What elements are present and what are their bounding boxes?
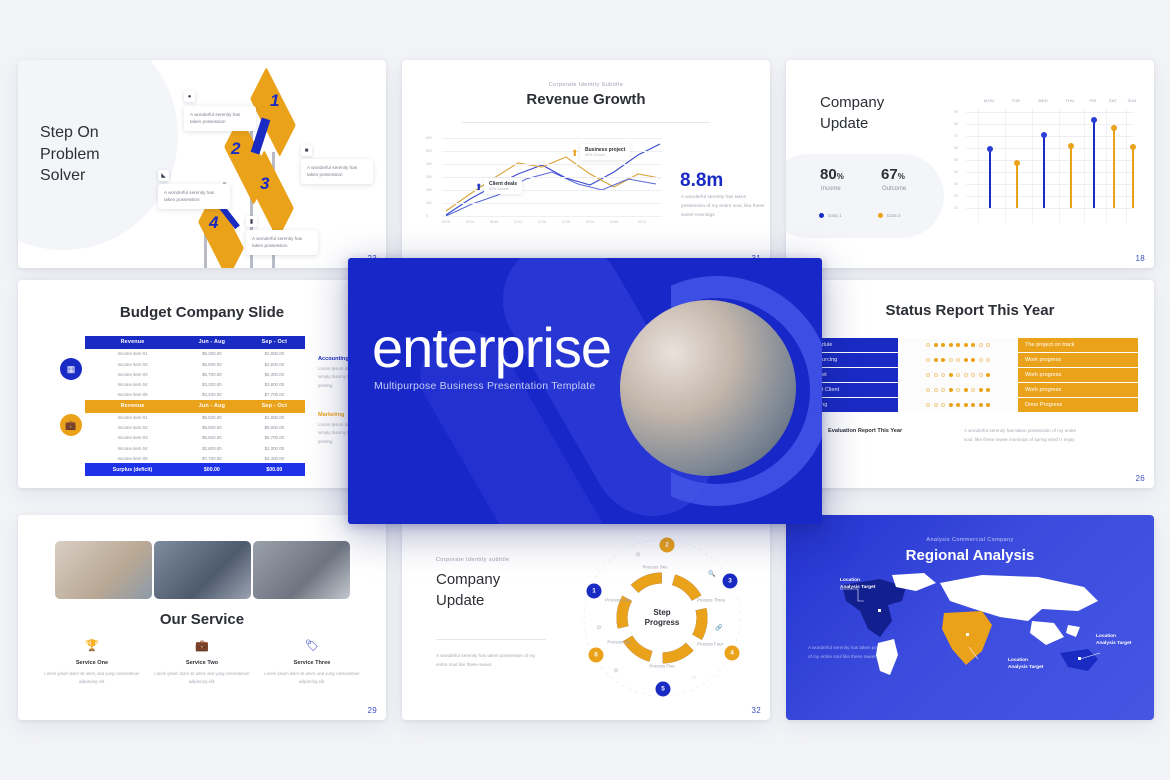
person-icon: ●	[184, 91, 195, 102]
search-icon: 🔍	[708, 571, 715, 578]
slide-our-service[interactable]: Our Service 🏆 Service One Lorem ipsum do…	[18, 515, 386, 720]
legend-item-data2: Data 2	[878, 213, 901, 218]
slide-step-on-problem-solver[interactable]: Step On Problem Solver 1 2 3 4 ● A wonde…	[18, 60, 386, 268]
trophy-icon: 🏆	[38, 641, 146, 652]
axis-tick-fri: FRI	[1089, 98, 1096, 103]
divider	[462, 122, 710, 123]
slide-eyebrow: Analysis Commercial Company	[786, 537, 1154, 543]
cell: $4,400.00	[244, 453, 305, 463]
col-sep-oct: Sep - Oct	[244, 400, 305, 413]
cell: Income item 02	[85, 423, 180, 433]
slide-title: Company Update	[820, 92, 884, 134]
axis-tick-tue: TUE	[1012, 98, 1021, 103]
service-photo	[154, 541, 251, 599]
status-row: Budget Work progress	[802, 368, 1138, 382]
step-number-3: 3	[260, 174, 269, 194]
cell: Surplus (deficit)	[85, 463, 180, 476]
step-number-1: 1	[270, 91, 279, 111]
table-header-row: Revenue Jun - Aug Sep - Oct	[85, 400, 305, 413]
table-row: Income item 02$6,800.00$4,600.00	[85, 359, 305, 369]
home-icon: ⌂	[692, 675, 696, 681]
service-text: Lorem ipsum dolor sit amet, and yung con…	[38, 670, 146, 686]
cell: $8,900.00	[244, 423, 305, 433]
process-label-1: Process One	[598, 598, 638, 605]
divider	[436, 639, 546, 640]
lollipop-stem	[1093, 120, 1095, 208]
map-marker-label-africa: Location Analysis Target	[1008, 657, 1048, 671]
page-number: 18	[1136, 254, 1146, 263]
status-row: Resourcing Work progress	[802, 353, 1138, 367]
tag-icon: 🏷	[258, 641, 366, 652]
page-number: 29	[368, 706, 378, 715]
page-number: 32	[752, 706, 762, 715]
col-sep-oct: Sep - Oct	[244, 336, 305, 349]
cell: Income item 01	[85, 413, 180, 423]
hero-title: enterprise	[372, 320, 611, 376]
table-row: Income item 05$7,700.00$4,400.00	[85, 453, 305, 463]
cell: Income item 02	[85, 359, 180, 369]
process-label-5: Process Five	[642, 664, 682, 671]
stat-label-income: Income	[821, 186, 841, 192]
annotation-growth: 89% Growth	[489, 187, 517, 191]
annotation-growth: 89% Growth	[585, 153, 625, 157]
cog-icon: ⚙	[613, 668, 618, 675]
map-marker-label-north-america: Location Analysis Target	[840, 577, 880, 591]
budget-table: Revenue Jun - Aug Sep - Oct Income item …	[85, 336, 305, 476]
cell: $5,500.00	[180, 413, 244, 423]
status-rating-dots	[898, 368, 1018, 382]
stat-label-outcome: Outcome	[882, 186, 906, 192]
process-node-6: 6	[589, 648, 604, 663]
process-label-3: Process Three	[691, 598, 731, 605]
slide-eyebrow: Corporate Identity Subtitle	[402, 82, 770, 88]
slide-company-update-chart[interactable]: Company Update 80% Income 67% Outcome Da…	[786, 60, 1154, 268]
slide-title: Revenue Growth	[402, 91, 770, 108]
lollipop-head	[1041, 132, 1047, 138]
slide-deck-preview: Step On Problem Solver 1 2 3 4 ● A wonde…	[0, 0, 1170, 780]
cell: Income item 05	[85, 390, 180, 400]
legend-dot	[878, 213, 883, 218]
card-icon: ▦	[60, 358, 82, 380]
service-photo	[253, 541, 350, 599]
col-revenue: Revenue	[85, 400, 180, 413]
legend-dot	[819, 213, 824, 218]
slide-budget-company[interactable]: Budget Company Slide ▦ 💼 Revenue Jun - A…	[18, 280, 386, 488]
cell: $6,300.00	[244, 369, 305, 379]
cell: $7,700.00	[180, 453, 244, 463]
col-jun-aug: Jun - Aug	[180, 336, 244, 349]
cell: $2,300.00	[244, 443, 305, 453]
status-row: Schedule The project on track	[802, 338, 1138, 352]
service-name: Service Two	[148, 660, 256, 666]
arrow-up-icon: ⬆	[571, 149, 579, 158]
step-number-4: 4	[209, 213, 218, 233]
image-icon: ■	[301, 145, 312, 156]
annotation-client-deals: ⬆ Client deals 89% Growth	[484, 178, 522, 194]
callout: A wonderful serenity has taken possessio…	[301, 159, 373, 184]
step-number-2: 2	[231, 139, 240, 159]
status-row: Event Client Work progress	[802, 383, 1138, 397]
table-row: Income item 03$5,700.00$6,300.00	[85, 369, 305, 379]
process-label-2: Process Two	[635, 565, 675, 572]
cell: $7,700.00	[244, 390, 305, 400]
slide-regional-analysis[interactable]: Analysis Commercial Company Regional Ana…	[786, 515, 1154, 720]
legend-label: Data 1	[828, 213, 842, 218]
lollipop-stem	[989, 149, 991, 208]
lollipop-chart: MON TUE WED THU FRI SAT SUN 90 80 70 60 …	[954, 98, 1134, 223]
cell: Income item 04	[85, 379, 180, 389]
slide-title: Regional Analysis	[786, 547, 1154, 564]
cell: $6,800.00	[180, 359, 244, 369]
slide-title: Status Report This Year	[786, 302, 1154, 319]
headline-metric: 8.8m	[680, 170, 723, 192]
table-header-row: Revenue Jun - Aug Sep - Oct	[85, 336, 305, 349]
table-row: Income item 01$5,300.00$2,800.00	[85, 349, 305, 359]
cell: $00.00	[244, 463, 305, 476]
cell: $6,600.00	[180, 433, 244, 443]
process-label-4: Process Four	[690, 642, 730, 649]
stat-value-outcome: 67%	[881, 166, 905, 183]
service-item: 🏆 Service One Lorem ipsum dolor sit amet…	[38, 641, 146, 686]
cell: Income item 03	[85, 369, 180, 379]
axis-tick-mon: MON	[984, 98, 994, 103]
process-node-2: 2	[660, 538, 675, 553]
table-row: Income item 04$2,800.00$2,300.00	[85, 443, 305, 453]
status-row-status: Work progress	[1018, 383, 1138, 397]
callout: A wonderful serenity has taken possessio…	[246, 230, 318, 255]
legend-label: Data 2	[887, 213, 901, 218]
cell: $5,700.00	[180, 369, 244, 379]
cell: $8,500.00	[180, 423, 244, 433]
process-wheel: Step Progress 1 Process One ⚙ 2 Process …	[567, 523, 757, 713]
col-revenue: Revenue	[85, 336, 180, 349]
process-node-3: 3	[723, 574, 738, 589]
slide-title: Company Update	[436, 569, 500, 611]
lollipop-head	[1111, 125, 1117, 131]
gear-icon: ⚙	[596, 625, 601, 632]
hero-subtitle: Multipurpose Business Presentation Templ…	[374, 380, 595, 392]
status-row: Solving Done Progress	[802, 398, 1138, 412]
arrow-up-icon: ⬆	[475, 183, 483, 192]
status-rating-dots	[898, 398, 1018, 412]
legend-item-data1: Data 1	[819, 213, 842, 218]
slide-title: Our Service	[18, 611, 386, 628]
process-label-6: Process Six	[599, 640, 639, 647]
slide-company-update-process[interactable]: Corporate Identity subtitle Company Upda…	[402, 515, 770, 720]
hero-title-slide[interactable]: enterprise Multipurpose Business Present…	[348, 258, 822, 524]
cell: Income item 03	[85, 433, 180, 443]
status-row-status: Work progress	[1018, 353, 1138, 367]
evaluation-text: A wonderful serenity has taken possessio…	[964, 426, 1086, 444]
slide-eyebrow: Corporate Identity subtitle	[436, 557, 509, 563]
cell: $1,800.00	[244, 413, 305, 423]
table-total-row: Surplus (deficit) $00.00 $00.00	[85, 463, 305, 476]
briefcase-icon: 💼	[148, 641, 256, 652]
service-item: 💼 Service Two Lorem ipsum dolor sit amet…	[148, 641, 256, 686]
stat-value-income: 80%	[820, 166, 844, 183]
cell: $6,700.00	[244, 433, 305, 443]
table-row: Income item 01$5,500.00$1,800.00	[85, 413, 305, 423]
headline-description: A wonderful serenity has taken possessio…	[681, 193, 765, 220]
link-icon: 🔗	[715, 625, 722, 632]
table-row: Income item 04$3,200.00$3,800.00	[85, 379, 305, 389]
lollipop-stem	[1132, 147, 1134, 208]
table-row: Income item 02$8,500.00$8,900.00	[85, 423, 305, 433]
status-rating-dots	[898, 353, 1018, 367]
slide-revenue-growth[interactable]: Corporate Identity Subtitle Revenue Grow…	[402, 60, 770, 268]
lollipop-stem	[1070, 146, 1072, 208]
phone-icon: ▮	[246, 216, 257, 227]
hand-icon: ◣	[158, 170, 169, 181]
service-name: Service Three	[258, 660, 366, 666]
evaluation-label-row: Evaluation Report This Year	[814, 428, 902, 434]
axis-tick-wed: WED	[1038, 98, 1048, 103]
cell: $4,400.00	[180, 390, 244, 400]
table-row: Income item 05$4,400.00$7,700.00	[85, 390, 305, 400]
status-rating-dots	[898, 338, 1018, 352]
process-node-5: 5	[656, 682, 671, 697]
slide-status-report[interactable]: Status Report This Year Schedule The pro…	[786, 280, 1154, 488]
status-row-status: Done Progress	[1018, 398, 1138, 412]
axis-tick-sat: SAT	[1109, 98, 1117, 103]
slide-title: Budget Company Slide	[18, 304, 386, 321]
cell: $4,600.00	[244, 359, 305, 369]
evaluation-label: Evaluation Report This Year	[828, 428, 902, 434]
briefcase-icon: 💼	[60, 414, 82, 436]
status-rating-dots	[898, 383, 1018, 397]
lollipop-head	[1091, 117, 1097, 123]
page-number: 26	[1136, 474, 1146, 483]
annotation-business-project: ⬆ Business project 89% Growth	[580, 144, 630, 160]
col-jun-aug: Jun - Aug	[180, 400, 244, 413]
process-node-1: 1	[587, 584, 602, 599]
service-text: Lorem ipsum dolor sit amet, and yung con…	[258, 670, 366, 686]
cell: Income item 05	[85, 453, 180, 463]
service-name: Service One	[38, 660, 146, 666]
cell: $5,300.00	[180, 349, 244, 359]
lollipop-head	[1068, 143, 1074, 149]
cell: $3,800.00	[244, 379, 305, 389]
lollipop-head	[1130, 144, 1136, 150]
cell: $00.00	[180, 463, 244, 476]
map-marker-label-australia: Location Analysis Target	[1096, 633, 1136, 647]
lollipop-stem	[1113, 128, 1115, 208]
cell: $2,800.00	[180, 443, 244, 453]
axis-tick-sun: SUN	[1127, 98, 1136, 103]
callout: A wonderful serenity has taken possessio…	[158, 184, 230, 209]
slide-header: Corporate Identity Subtitle Revenue Grow…	[402, 82, 770, 108]
table-row: Income item 03$6,600.00$6,700.00	[85, 433, 305, 443]
callout: A wonderful serenity has taken possessio…	[184, 106, 256, 131]
slide-title: Step On Problem Solver	[40, 122, 100, 187]
lollipop-head	[987, 146, 993, 152]
cell: Income item 04	[85, 443, 180, 453]
status-row-status: Work progress	[1018, 368, 1138, 382]
hero-photo	[620, 300, 796, 476]
service-text: Lorem ipsum dolor sit amet, and yung con…	[148, 670, 256, 686]
lollipop-stem	[1016, 163, 1018, 208]
settings-icon: ⚙	[635, 552, 640, 559]
lollipop-head	[1014, 160, 1020, 166]
cell: Income item 01	[85, 349, 180, 359]
lollipop-stem	[1043, 135, 1045, 208]
service-item: 🏷 Service Three Lorem ipsum dolor sit am…	[258, 641, 366, 686]
cell: $2,800.00	[244, 349, 305, 359]
cell: $3,200.00	[180, 379, 244, 389]
axis-tick-thu: THU	[1066, 98, 1075, 103]
service-photo	[55, 541, 152, 599]
stats-card	[786, 154, 944, 238]
slide-description: A wonderful serenity has taken possessio…	[436, 651, 542, 669]
status-row-status: The project on track	[1018, 338, 1138, 352]
